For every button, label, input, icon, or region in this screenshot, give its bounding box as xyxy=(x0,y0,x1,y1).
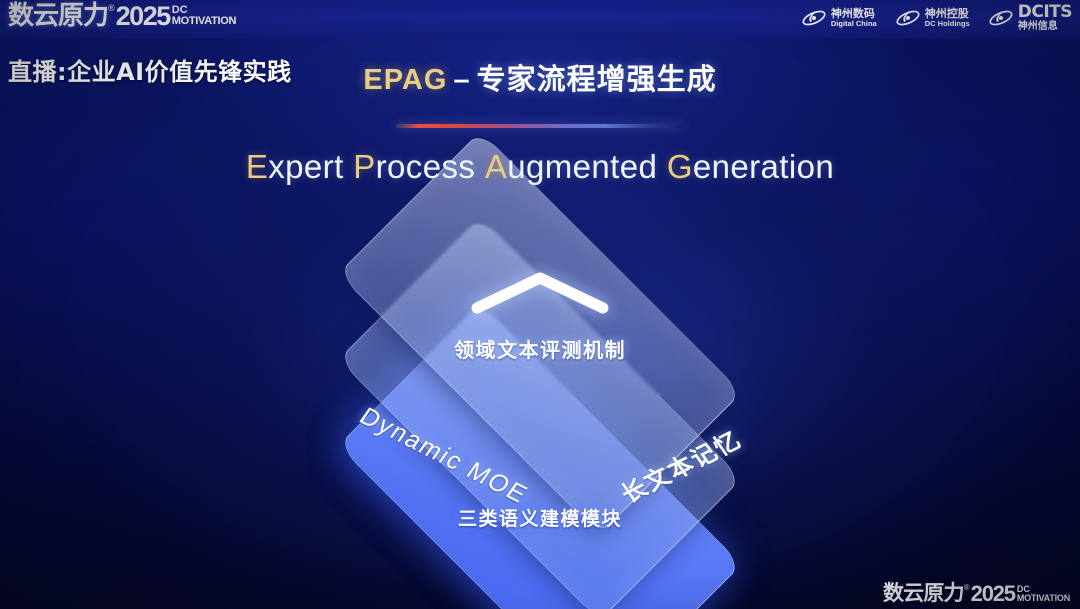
subtitle-space-1 xyxy=(344,148,354,185)
brand-name-cn: 数云原力 xyxy=(8,3,108,29)
subtitle-word-expert: xpert xyxy=(268,148,343,185)
partner-logo-dc-holdings: 神州控股 DC Holdings xyxy=(895,7,970,29)
partner-name-en: Digital China xyxy=(831,20,877,28)
swirl-icon xyxy=(801,7,827,29)
watermark-name-cn: 数云原力 xyxy=(883,583,964,604)
brand-registered-mark: ® xyxy=(108,4,115,13)
layered-architecture-diagram: 领域文本评测机制 Dynamic MOE 长文本记忆 三类语义建模模块 xyxy=(290,222,790,570)
page-subtitle: Expert Process Augmented Generation xyxy=(0,148,1080,186)
watermark-dc-motivation: DC MOTIVATION xyxy=(1017,585,1070,603)
subtitle-initial-a: A xyxy=(485,148,507,185)
chevron-up-icon xyxy=(467,268,613,316)
swirl-icon xyxy=(988,7,1014,29)
subtitle-word-augmented: ugmented xyxy=(507,148,657,185)
brand-motivation-text: MOTIVATION xyxy=(172,16,236,27)
watermark-motivation-text: MOTIVATION xyxy=(1017,594,1070,603)
subtitle-word-process: rocess xyxy=(376,148,476,185)
title-dash: – xyxy=(453,64,470,96)
partner-label: 神州数码 Digital China xyxy=(831,8,877,27)
subtitle-word-generation: eneration xyxy=(693,148,834,185)
swirl-icon xyxy=(895,7,921,29)
brand-dc-motivation: DC MOTIVATION xyxy=(172,5,236,27)
subtitle-space-3 xyxy=(657,148,667,185)
layer-top-face xyxy=(338,131,742,535)
partner-logo-digital-china: 神州数码 Digital China xyxy=(801,7,877,29)
subtitle-initial-g: G xyxy=(667,148,693,185)
partner-label: DCITS 神州信息 xyxy=(1018,4,1072,32)
partner-name-en: DC Holdings xyxy=(925,20,970,28)
subtitle-space-2 xyxy=(475,148,485,185)
subtitle-initial-e: E xyxy=(246,148,268,185)
title-chinese: 专家流程增强生成 xyxy=(477,62,717,96)
brand-logo: 数云原力 ® 2025 DC MOTIVATION xyxy=(8,3,236,30)
watermark-registered-mark: ® xyxy=(964,584,970,592)
watermark-year: 2025 xyxy=(971,583,1015,605)
gradient-divider xyxy=(396,124,684,128)
page-title: EPAG–专家流程增强生成 xyxy=(0,56,1080,98)
partner-label: 神州控股 DC Holdings xyxy=(925,8,970,27)
footer-watermark-logo: 数云原力 ® 2025 DC MOTIVATION xyxy=(883,583,1070,605)
slide-canvas: 数云原力 ® 2025 DC MOTIVATION 直播:企业AI价值先锋实践 … xyxy=(0,0,1080,609)
subtitle-initial-p: P xyxy=(353,148,375,185)
partner-logo-group: 神州数码 Digital China 神州控股 DC Holdings xyxy=(801,4,1072,32)
partner-name-cn: 神州信息 xyxy=(1018,22,1072,33)
brand-year: 2025 xyxy=(116,3,170,30)
partner-name-en: DCITS xyxy=(1018,4,1072,22)
diagram-layer-top[interactable] xyxy=(355,148,725,518)
partner-logo-dcits: DCITS 神州信息 xyxy=(988,4,1072,32)
title-acronym: EPAG xyxy=(363,64,447,96)
